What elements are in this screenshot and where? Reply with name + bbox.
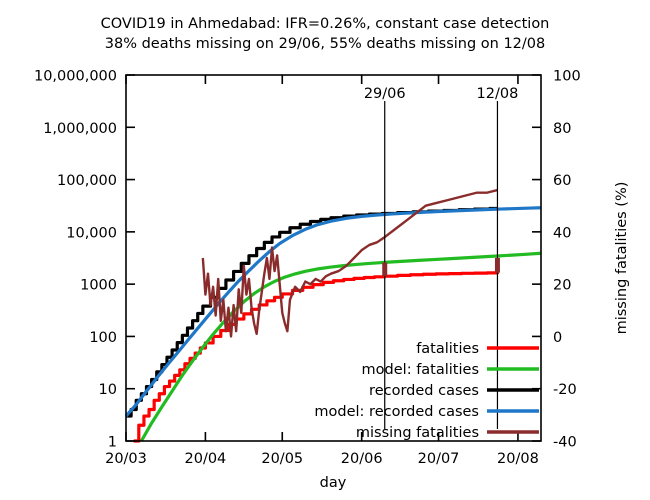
y-tick-label: 1000 [80, 278, 117, 294]
x-tick-label: 20/07 [418, 451, 460, 467]
y2-tick-label: 20 [553, 278, 571, 294]
y-tick-label: 100 [89, 330, 117, 346]
x-tick-label: 20/04 [185, 451, 227, 467]
chart-root: COVID19 in Ahmedabad: IFR=0.26%, constan… [0, 0, 650, 500]
x-tick-label: 20/06 [341, 451, 383, 467]
y-tick-label: 10,000,000 [34, 69, 117, 85]
x-tick-label: 20/08 [497, 451, 539, 467]
y2-tick-label: 0 [553, 330, 562, 346]
y-tick-label: 1 [108, 435, 117, 451]
annotation-label: 12/08 [477, 86, 519, 102]
y2-tick-label: 100 [553, 69, 581, 85]
y2-tick-label: -40 [553, 435, 577, 451]
legend-label-model-recorded-cases: model: recorded cases [314, 404, 479, 420]
y2-axis-label: missing fatalities (%) [614, 182, 630, 335]
y-tick-label: 1,000,000 [43, 121, 117, 137]
legend-label-fatalities: fatalities [416, 341, 479, 357]
chart-plot-area: 29/0612/08 110100100010,000100,0001,000,… [0, 0, 650, 500]
y-tick-label: 10,000 [66, 225, 117, 241]
chart-legend: fatalitiesmodel: fatalitiesrecorded case… [314, 341, 539, 441]
legend-label-model-fatalities: model: fatalities [362, 362, 479, 378]
x-tick-label: 20/05 [261, 451, 303, 467]
y2-tick-label: 60 [553, 173, 571, 189]
y-tick-label: 10 [99, 382, 117, 398]
y-tick-label: 100,000 [57, 173, 117, 189]
y2-tick-label: 80 [553, 121, 571, 137]
legend-label-recorded-cases: recorded cases [369, 383, 479, 399]
y2-tick-label: 40 [553, 225, 571, 241]
annotation-label: 29/06 [364, 86, 406, 102]
x-tick-label: 20/03 [105, 451, 147, 467]
x-axis-label: day [320, 475, 347, 491]
y2-tick-label: -20 [553, 382, 577, 398]
legend-label-missing-fatalities: missing fatalities [356, 425, 479, 441]
